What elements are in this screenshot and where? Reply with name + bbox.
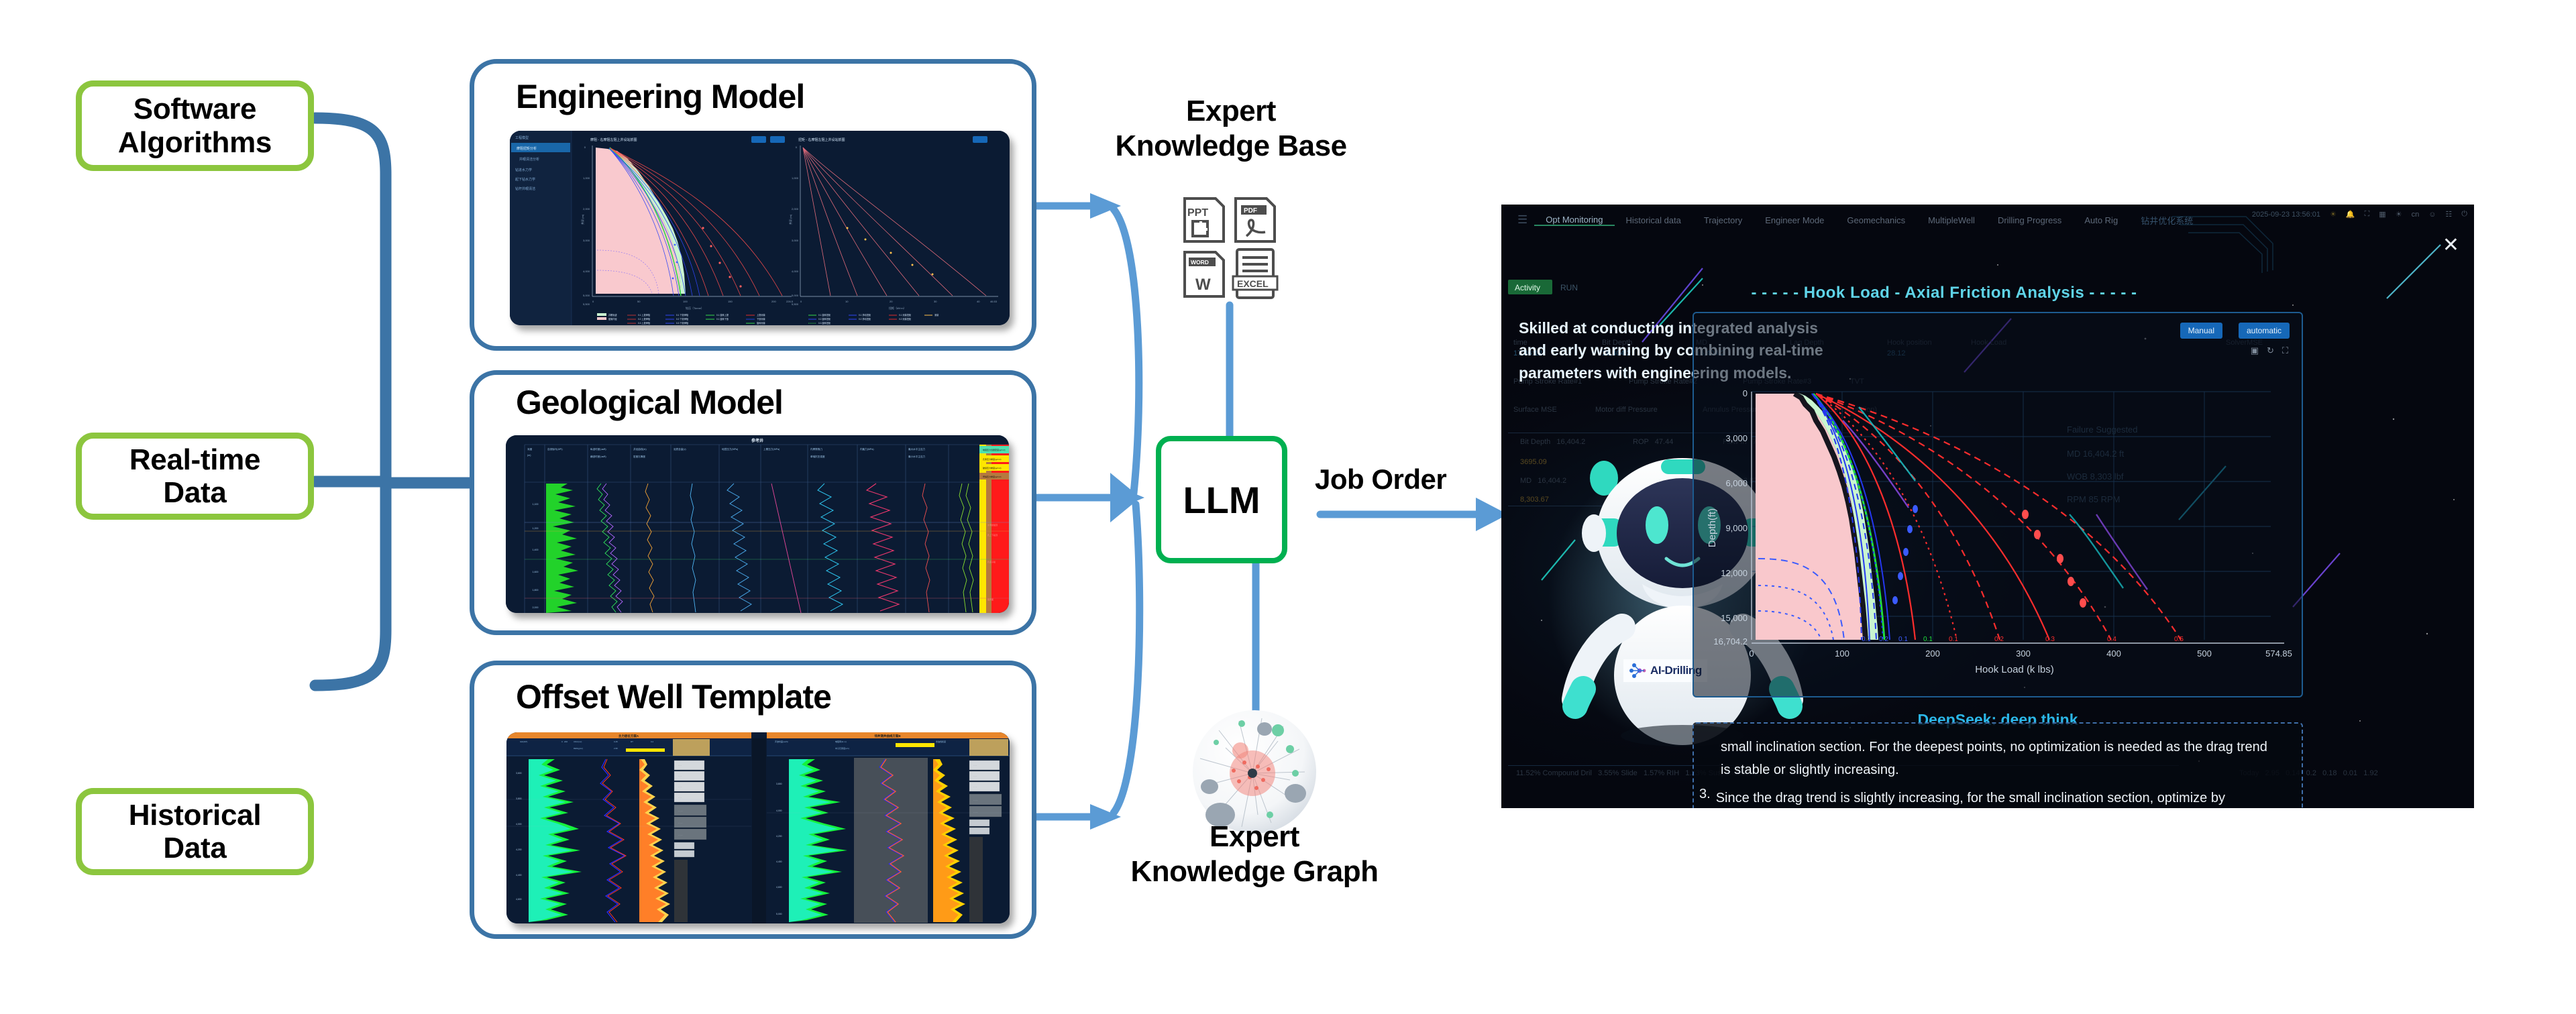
input-pill-label: Historical Data (129, 799, 262, 865)
svg-text:横波时差(us/ft): 横波时差(us/ft) (590, 455, 606, 458)
svg-text:400: 400 (2106, 649, 2121, 659)
svg-text:50: 50 (637, 300, 641, 303)
svg-text:· · ·: · · · (973, 764, 977, 767)
svg-text:12,000: 12,000 (1721, 568, 1748, 578)
svg-text:3,000: 3,000 (792, 239, 799, 242)
svg-text:沙河街组顶: 沙河街组顶 (987, 523, 998, 526)
svg-text:井径曲线(in): 井径曲线(in) (633, 447, 647, 451)
svg-text:9,000: 9,000 (1725, 523, 1748, 533)
deepseek-panel: small inclination section. For the deepe… (1693, 722, 2303, 808)
svg-text:MD 16,404.2 ft: MD 16,404.2 ft (2067, 449, 2125, 459)
svg-text:坍塌压力梯度(g/cm³): 坍塌压力梯度(g/cm³) (983, 475, 1002, 478)
nav-tab-multiple-well[interactable]: MultipleWell (1917, 215, 1986, 225)
svg-text:钻杆井眼清洁: 钻杆井眼清洁 (515, 186, 535, 191)
svg-text:孔店子段: 孔店子段 (987, 560, 996, 563)
card-title: Engineering Model (516, 77, 804, 116)
svg-text:2,000: 2,000 (533, 606, 539, 609)
svg-text:3,600: 3,600 (516, 772, 522, 775)
sun-icon[interactable]: ☀ (2330, 210, 2337, 219)
llm-box[interactable]: LLM (1156, 436, 1287, 563)
deepseek-paragraph: small inclination section. For the deepe… (1721, 736, 2277, 782)
y-axis-title: Depth(ft) (1707, 508, 1718, 547)
deepseek-item-number: 3. (1699, 787, 1711, 808)
expert-knowledge-graph-label: Expert Knowledge Graph (1087, 820, 1422, 889)
svg-text:PDF: PDF (1244, 207, 1257, 215)
svg-text:3,800: 3,800 (516, 797, 522, 800)
svg-text:参考井: 参考井 (751, 438, 763, 443)
svg-text:4,000: 4,000 (792, 270, 799, 273)
svg-text:0.1 测量扭矩: 0.1 测量扭矩 (899, 313, 912, 317)
svg-text:100: 100 (683, 300, 688, 303)
arrow-off-curve (1114, 504, 1140, 813)
input-pill-label: Software Algorithms (118, 93, 272, 159)
nav-suffix-label: 钻井优化系统 (2129, 214, 2204, 227)
svg-text:· · · ·: · · · · (973, 799, 978, 801)
svg-text:主力层位方案A: 主力层位方案A (619, 734, 639, 738)
svg-text:200: 200 (1925, 649, 1940, 659)
svg-text:邻井测井曲线方案B: 邻井测井曲线方案B (874, 734, 901, 738)
offset-well-logs: 主力层位方案A 邻井测井曲线方案B GR(API)200 0 CNC(v/v)0… (506, 732, 1010, 923)
svg-text:40: 40 (977, 300, 980, 303)
svg-text:0.2: 0.2 (651, 740, 654, 743)
svg-text:自然伽马(API): 自然伽马(API) (547, 447, 563, 451)
svg-text:1,400: 1,400 (533, 549, 539, 551)
svg-text:套管内径: 套管内径 (608, 317, 618, 321)
input-pill-real-time-data[interactable]: Real-time Data (76, 433, 314, 520)
svg-text:CNC(v/v): CNC(v/v) (574, 740, 582, 743)
svg-text:0.45: 0.45 (614, 740, 618, 743)
svg-text:EXCEL: EXCEL (1237, 278, 1269, 289)
svg-text:200: 200 (564, 740, 568, 743)
svg-text:密度孔隙度: 密度孔隙度 (633, 455, 645, 458)
job-order-label: Job Order (1315, 463, 1529, 496)
diagram-canvas: Software Algorithms Real-time Data Histo… (0, 0, 2576, 1014)
app-timestamp: 2025-09-23 13:56:01 (2252, 211, 2320, 219)
svg-text:5,500: 5,500 (583, 302, 590, 306)
llm-label: LLM (1183, 478, 1260, 522)
svg-text:摩阻 - 右摩阻左阻上井设站抓图: 摩阻 - 右摩阻左阻上井设站抓图 (590, 137, 637, 142)
svg-text:15,000: 15,000 (1721, 613, 1748, 623)
svg-text:井眼轨迹: 井眼轨迹 (608, 313, 618, 317)
svg-text:扭矩 - 右摩阻左阻上井设站抓图: 扭矩 - 右摩阻左阻上井设站抓图 (798, 137, 845, 142)
svg-text:0.2 滑动扭矩: 0.2 滑动扭矩 (859, 317, 871, 321)
nav-tab-opt-monitoring[interactable]: Opt Monitoring (1534, 215, 1614, 226)
svg-text:上提测量: 上提测量 (757, 313, 766, 317)
svg-text:1,000: 1,000 (792, 176, 799, 180)
svg-text:WORD: WORD (1191, 259, 1209, 266)
svg-text:摩阻扭矩分析: 摩阻扭矩分析 (517, 146, 537, 151)
svg-text:0.2 上提摩阻: 0.2 上提摩阻 (638, 317, 651, 321)
nav-tab-trajectory[interactable]: Trajectory (1693, 215, 1754, 225)
svg-text:2.95: 2.95 (614, 747, 618, 750)
svg-text:Failure Suggested: Failure Suggested (2067, 425, 2138, 435)
expand-icon[interactable]: ⛶ (2365, 210, 2370, 219)
svg-text:0.1: 0.1 (1949, 636, 1958, 643)
svg-text:RT: RT (631, 740, 633, 743)
card-geological-model[interactable]: Geological Model 参考井 (470, 370, 1036, 635)
document-icons-group: PPT PDF WORD W (1181, 194, 1281, 302)
svg-text:0.3 下放摩阻: 0.3 下放摩阻 (676, 321, 689, 325)
svg-text:工程模型: 工程模型 (515, 135, 529, 140)
svg-text:· · ·: · · · (973, 775, 977, 777)
svg-text:· · ·: · · · (973, 785, 977, 788)
svg-text:0.1 旋转上提: 0.1 旋转上提 (716, 313, 729, 317)
svg-text:最小水平主应力: 最小水平主应力 (908, 455, 926, 458)
app-navbar[interactable]: ☰ Opt Monitoring Historical data Traject… (1501, 205, 2474, 235)
svg-text:0.5: 0.5 (2174, 636, 2184, 643)
svg-text:· · · ·: · · · · (973, 811, 978, 813)
svg-text:WOB 8,303 lbf: WOB 8,303 lbf (2067, 471, 2124, 482)
svg-text:300: 300 (2016, 649, 2031, 659)
svg-text:井深 (m): 井深 (m) (580, 214, 584, 225)
power-icon[interactable]: ⏻ (2461, 210, 2467, 219)
globe-icon[interactable]: ☀ (2396, 210, 2402, 219)
svg-text:0.1: 0.1 (1862, 636, 1871, 643)
svg-text:DEN(g/cc): DEN(g/cc) (574, 747, 583, 750)
ai-drilling-mark (1629, 662, 1646, 679)
grid-icon[interactable]: ▦ (2379, 210, 2385, 219)
svg-text:W: W (1195, 276, 1211, 294)
offset-well-template-screenshot: 主力层位方案A 邻井测井曲线方案B GR(API)200 0 CNC(v/v)0… (506, 732, 1010, 923)
svg-text:中子孔隙度(v/v): 中子孔隙度(v/v) (835, 746, 849, 750)
svg-text:0.1 旋转扭矩: 0.1 旋转扭矩 (818, 313, 831, 317)
svg-text:· · ·: · · · (678, 764, 682, 767)
svg-text:0.2 下放摩阻: 0.2 下放摩阻 (676, 317, 689, 321)
svg-text:1,200: 1,200 (533, 527, 539, 530)
svg-text:纵波时差(us/ft): 纵波时差(us/ft) (590, 447, 606, 451)
svg-text:6,000: 6,000 (1725, 478, 1748, 488)
card-engineering-model[interactable]: Engineering Model 工程模型摩阻扭矩分析 井眼清洁分析钻进水力学… (470, 59, 1036, 351)
svg-text:0.1 旋转下放: 0.1 旋转下放 (716, 317, 729, 321)
svg-text:100: 100 (1835, 649, 1849, 659)
svg-text:· · ·: · · · (678, 775, 682, 777)
user-icon[interactable]: ☺ (2428, 211, 2436, 219)
svg-text:500: 500 (2197, 649, 2212, 659)
svg-text:10: 10 (845, 300, 849, 303)
bell-icon[interactable]: 🔔 (2346, 210, 2355, 219)
arrow-eng-curve (1114, 209, 1139, 493)
chart-title: - - - - - Hook Load - Axial Friction Ana… (1689, 284, 2199, 302)
svg-text:4,000: 4,000 (583, 270, 590, 273)
svg-text:· · · ·: · · · · (678, 809, 683, 812)
svg-text:0.1: 0.1 (1898, 636, 1908, 643)
svg-text:扭矩（kN·m）: 扭矩（kN·m） (889, 306, 906, 310)
activity-state: RUN (1560, 283, 1578, 292)
engineering-model-screenshot: 工程模型摩阻扭矩分析 井眼清洁分析钻进水力学 起下钻水力学钻杆井眼清洁 摩阻 -… (510, 131, 1010, 325)
svg-text:1,800: 1,800 (533, 589, 539, 591)
input-pill-software-algorithms[interactable]: Software Algorithms (76, 80, 314, 171)
svg-text:0.3 旋转扭矩: 0.3 旋转扭矩 (818, 321, 831, 325)
svg-text:2,000: 2,000 (583, 207, 590, 211)
svg-text:16,704.2: 16,704.2 (1713, 636, 1748, 646)
svg-text:4,400: 4,400 (516, 874, 522, 877)
svg-text:破裂压力梯度(g/cm³): 破裂压力梯度(g/cm³) (983, 466, 1002, 469)
svg-text:下放测量: 下放测量 (757, 317, 766, 321)
well-log-tracks: 参考井 自然伽马(AP (506, 435, 1009, 613)
svg-text:· · · ·: · · · · (678, 822, 683, 824)
lang-label[interactable]: cn (2412, 211, 2420, 219)
svg-text:孔隙压力梯度(g/cm³): 孔隙压力梯度(g/cm³) (983, 457, 1002, 461)
svg-text:0.4: 0.4 (2107, 636, 2116, 643)
svg-text:0.2 旋转扭矩: 0.2 旋转扭矩 (818, 317, 831, 321)
svg-text:4,400: 4,400 (776, 860, 782, 863)
nav-tab-engineer-mode[interactable]: Engineer Mode (1754, 215, 1835, 225)
svg-text:3,000: 3,000 (1725, 433, 1748, 443)
x-axis-title: Hook Load (k lbs) (1975, 664, 2054, 675)
svg-text:测量: 测量 (934, 313, 939, 317)
svg-text:RPM 85 RPM: RPM 85 RPM (2067, 494, 2120, 504)
hamburger-icon[interactable]: ☰ (1517, 213, 1527, 227)
svg-text:GR(API): GR(API) (520, 740, 527, 743)
close-icon[interactable]: ✕ (2443, 235, 2459, 256)
svg-text:最大水平主应力: 最大水平主应力 (908, 447, 926, 451)
svg-text:0.1: 0.1 (1923, 636, 1933, 643)
svg-text:井眼清洁分析: 井眼清洁分析 (519, 157, 539, 162)
svg-text:(m): (m) (527, 454, 531, 457)
svg-text:0.1 上提摩阻: 0.1 上提摩阻 (638, 313, 651, 317)
torque-drag-chart: 工程模型摩阻扭矩分析 井眼清洁分析钻进水力学 起下钻水力学钻杆井眼清洁 摩阻 -… (510, 131, 1010, 325)
svg-text:5,500: 5,500 (792, 302, 799, 306)
svg-text:4,000: 4,000 (776, 809, 782, 812)
svg-text:0: 0 (1743, 388, 1748, 398)
input-pill-label: Real-time Data (129, 443, 260, 510)
svg-text:5,000: 5,000 (776, 913, 782, 915)
svg-text:电阻率(Ω·m): 电阻率(Ω·m) (835, 740, 847, 743)
navbar-right-cluster[interactable]: 2025-09-23 13:56:01 ☀ 🔔 ⛶ ▦ ☀ cn ☺ ☷ ⏻ (2252, 210, 2467, 219)
svg-text:内聚力(MPa): 内聚力(MPa) (860, 447, 874, 451)
deepseek-item-text: Since the drag trend is slightly increas… (1716, 787, 2290, 808)
svg-text:0.1 滑动扭矩: 0.1 滑动扭矩 (859, 313, 871, 317)
nav-tab-historical-data[interactable]: Historical data (1615, 215, 1693, 225)
svg-text:46.53: 46.53 (990, 300, 998, 303)
svg-text:0.1 下放摩阻: 0.1 下放摩阻 (676, 313, 689, 317)
svg-text:井深 (m): 井深 (m) (788, 214, 792, 225)
svg-text:2,000: 2,000 (792, 207, 799, 211)
svg-text:4,600: 4,600 (516, 898, 522, 901)
svg-text:3,000: 3,000 (583, 239, 590, 242)
svg-text:0.2: 0.2 (1879, 636, 1888, 643)
svg-text:4,600: 4,600 (776, 886, 782, 889)
svg-text:4,200: 4,200 (776, 835, 782, 838)
svg-text:含油饱和度: 含油饱和度 (936, 740, 946, 743)
svg-text:5,000: 5,000 (583, 294, 590, 297)
svg-text:150: 150 (728, 300, 733, 303)
card-offset-well-template[interactable]: Offset Well Template 主力层位方案A 邻井测井曲线方案B (470, 661, 1036, 939)
svg-text:起下钻水力学: 起下钻水力学 (515, 177, 535, 182)
apps-icon[interactable]: ☷ (2445, 210, 2452, 219)
geological-model-screenshot: 参考井 自然伽马(AP (506, 435, 1009, 613)
svg-text:0.2 测量扭矩: 0.2 测量扭矩 (899, 317, 912, 321)
svg-text:声波时差(us/ft): 声波时差(us/ft) (775, 740, 788, 743)
svg-text:地层压力(MPa): 地层压力(MPa) (722, 447, 738, 451)
card-title: Geological Model (516, 383, 783, 422)
nav-tab-drilling-progress[interactable]: Drilling Progress (1986, 215, 2073, 225)
nav-tab-auto-rig[interactable]: Auto Rig (2073, 215, 2129, 225)
svg-text:0.3: 0.3 (2045, 636, 2055, 643)
svg-text:3,800: 3,800 (776, 783, 782, 785)
input-bracket (315, 118, 386, 685)
svg-text:· · ·: · · · (678, 796, 682, 799)
svg-text:4,200: 4,200 (516, 848, 522, 851)
svg-text:上覆压力(MPa): 上覆压力(MPa) (763, 447, 780, 451)
svg-text:0: 0 (1749, 649, 1754, 659)
svg-text:30: 30 (934, 300, 937, 303)
svg-text:钻进水力学: 钻进水力学 (515, 168, 532, 172)
deepseek-list-item: 3. Since the drag trend is slightly incr… (1699, 787, 2290, 808)
card-title: Offset Well Template (516, 677, 831, 716)
svg-text:574.85: 574.85 (2265, 649, 2292, 659)
ai-drilling-app-window[interactable]: Activity Activity RUN time 17:36:12 Bit … (1501, 205, 2474, 808)
svg-text:孔二下段顶: 孔二下段顶 (987, 533, 998, 537)
hook-load-plot: 0 3,000 6,000 9,000 12,000 15,000 16,704… (1694, 313, 2302, 696)
svg-text:PPT: PPT (1187, 207, 1208, 219)
hook-load-chart-panel[interactable]: Manual automatic ▣ ↻ ⛶ (1693, 312, 2303, 697)
svg-text:地层压力当量密度(g/cm³): 地层压力当量密度(g/cm³) (983, 448, 1006, 451)
svg-text:1,600: 1,600 (533, 571, 539, 573)
svg-text:· · · ·: · · · · (678, 834, 683, 836)
svg-text:20: 20 (890, 300, 893, 303)
input-pill-historical-data[interactable]: Historical Data (76, 788, 314, 875)
svg-text:· · ·: · · · (678, 785, 682, 788)
svg-text:5,000: 5,000 (792, 294, 799, 297)
svg-text:泥质含量(v): 泥质含量(v) (674, 447, 686, 451)
svg-text:单轴抗压强度: 单轴抗压强度 (810, 455, 825, 458)
nav-tab-geomechanics[interactable]: Geomechanics (1835, 215, 1917, 225)
svg-text:深度: 深度 (527, 447, 533, 451)
svg-text:旋转测量: 旋转测量 (757, 321, 766, 325)
svg-text:0.3 上提摩阻: 0.3 上提摩阻 (638, 321, 651, 325)
svg-text:钻压（Tonne）: 钻压（Tonne） (686, 306, 704, 310)
expert-knowledge-base-label: Expert Knowledge Base (1087, 94, 1375, 164)
svg-text:1,000: 1,000 (583, 176, 590, 180)
activity-badge-text: Activity (1515, 283, 1540, 292)
svg-text:1,100: 1,100 (533, 503, 539, 506)
svg-text:0.2: 0.2 (1994, 636, 2004, 643)
svg-text:4,000: 4,000 (516, 823, 522, 826)
svg-text:200: 200 (771, 300, 776, 303)
svg-text:内摩擦角(°): 内摩擦角(°) (810, 447, 822, 451)
